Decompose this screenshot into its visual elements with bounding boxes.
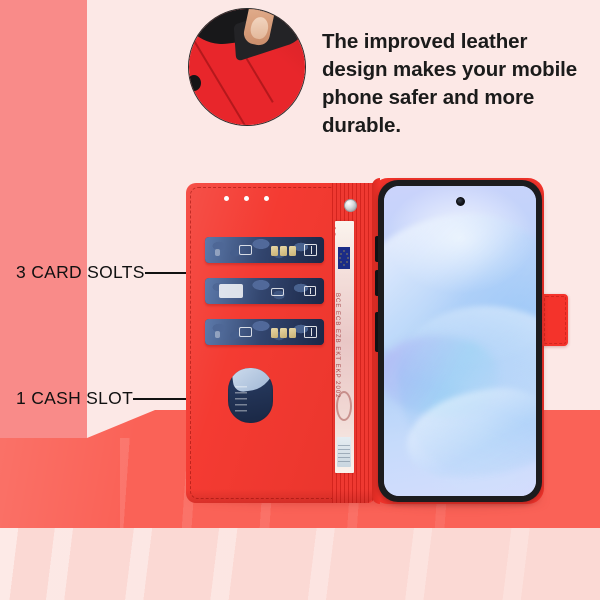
banknote-arch-motif xyxy=(336,391,352,421)
headline-text: The improved leather design makes your m… xyxy=(322,28,594,140)
card-chip xyxy=(289,328,296,338)
card-hologram xyxy=(239,327,252,337)
smartphone xyxy=(378,180,542,502)
card-logo xyxy=(304,286,316,296)
wallet-rivet-snap xyxy=(344,199,357,212)
background-wall-left xyxy=(0,0,87,438)
card-logo xyxy=(304,244,317,256)
red-leather-wallet-case: 10 BCE ECB EZB EKT EKP 2002 xyxy=(186,183,374,503)
card-hologram xyxy=(271,288,284,296)
volume-up-button[interactable] xyxy=(375,236,378,262)
power-button[interactable] xyxy=(375,312,378,352)
cash-slot xyxy=(228,368,273,423)
front-camera-icon xyxy=(456,197,465,206)
wallet-flap-dots xyxy=(224,196,269,201)
card-slot xyxy=(205,237,324,263)
magnetic-tab-stitching xyxy=(544,296,566,344)
card-chip-large xyxy=(219,284,243,298)
banknote-lower-lines xyxy=(338,445,350,463)
card-detail xyxy=(215,331,220,338)
leather-closeup-circle xyxy=(188,8,306,126)
wallet-bottom-shading xyxy=(186,489,374,503)
card-detail xyxy=(215,249,220,256)
card-chip xyxy=(280,246,287,256)
flap-dot xyxy=(264,196,269,201)
background-foreground-rays xyxy=(0,528,600,600)
card-slot xyxy=(205,319,324,345)
magnetic-closure-tab xyxy=(542,294,568,346)
callout-cash-slot-label: 1 CASH SLOT xyxy=(16,388,133,409)
cash-slot-ridges xyxy=(235,386,247,416)
banknote-pocket: 10 BCE ECB EZB EKT EKP 2002 xyxy=(335,221,354,473)
flap-dot xyxy=(224,196,229,201)
product-feature-scene: The improved leather design makes your m… xyxy=(0,0,600,600)
banknote-series-text: BCE ECB EZB EKT EKP 2002 xyxy=(335,293,340,398)
card-logo xyxy=(304,326,317,338)
volume-down-button[interactable] xyxy=(375,270,378,296)
banknote-denomination: 10 xyxy=(335,225,337,237)
card-chip xyxy=(271,246,278,256)
card-chip xyxy=(280,328,287,338)
eu-flag-stars-icon xyxy=(338,247,350,269)
callout-card-slots-label: 3 CARD SOLTS xyxy=(16,262,145,283)
flap-dot xyxy=(244,196,249,201)
card-slot xyxy=(205,278,324,304)
card-hologram xyxy=(239,245,252,255)
phone-screen[interactable] xyxy=(384,186,536,496)
card-chip xyxy=(271,328,278,338)
card-chip xyxy=(289,246,296,256)
phone-frame xyxy=(378,180,542,502)
